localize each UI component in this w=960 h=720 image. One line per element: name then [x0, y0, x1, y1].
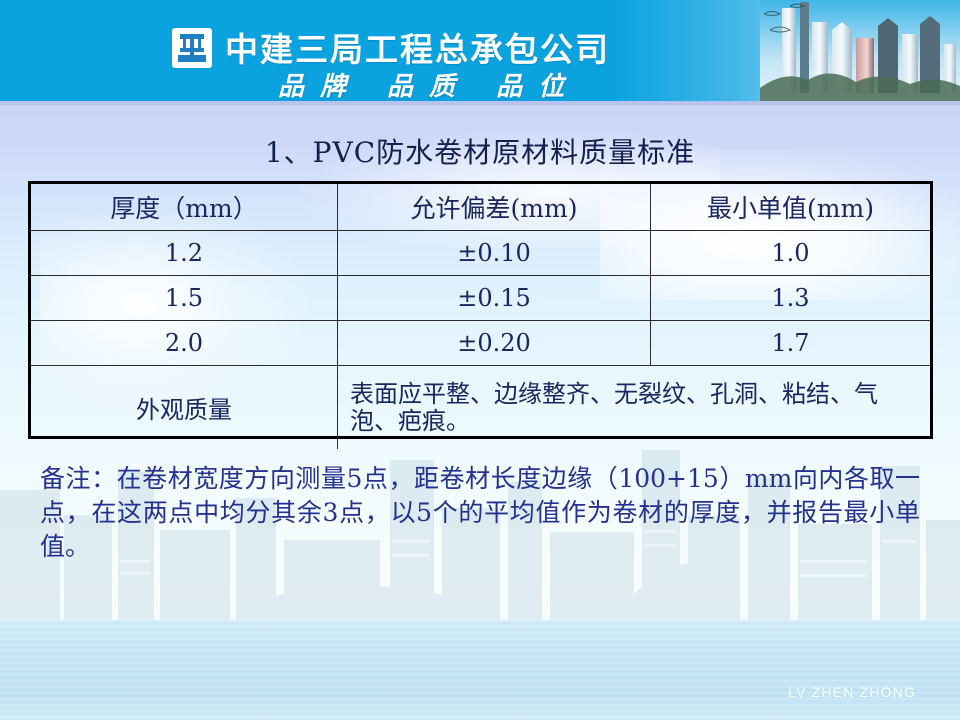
note-text: 备注：在卷材宽度方向测量5点，距卷材长度边缘（100+15）mm向内各取一点，在… — [40, 462, 920, 563]
quality-standard-table: 厚度（mm） 允许偏差(mm) 最小单值(mm) 1.2 ±0.10 1.0 1… — [28, 181, 933, 439]
table-row-appearance: 外观质量 表面应平整、边缘整齐、无裂纹、孔洞、粘结、气泡、疤痕。 — [31, 366, 930, 450]
table-row: 2.0 ±0.20 1.7 — [31, 321, 930, 366]
column-header-tolerance: 允许偏差(mm) — [338, 184, 651, 231]
cell-tolerance: ±0.10 — [338, 231, 651, 276]
table-row: 1.2 ±0.10 1.0 — [31, 231, 930, 276]
cell-appearance-value: 表面应平整、边缘整齐、无裂纹、孔洞、粘结、气泡、疤痕。 — [338, 366, 931, 450]
cell-thickness: 1.2 — [31, 231, 338, 276]
company-slogan: 品牌 品质 品位 — [278, 66, 580, 103]
column-header-thickness: 厚度（mm） — [31, 184, 338, 231]
page-title: 1、PVC防水卷材原材料质量标准 — [0, 131, 960, 171]
company-name: 中建三局工程总承包公司 — [225, 23, 610, 71]
header-banner: 中建三局工程总承包公司 品牌 品质 品位 — [0, 0, 960, 105]
table-row: 1.5 ±0.15 1.3 — [31, 276, 930, 321]
table-header-row: 厚度（mm） 允许偏差(mm) 最小单值(mm) — [31, 184, 930, 231]
watermark: LV ZHEN ZHONG — [788, 684, 916, 700]
cell-tolerance: ±0.15 — [338, 276, 651, 321]
cell-min-value: 1.7 — [651, 321, 931, 366]
company-logo-icon — [172, 28, 212, 68]
cell-tolerance: ±0.20 — [338, 321, 651, 366]
cell-min-value: 1.0 — [651, 231, 931, 276]
banner-bottom-strip — [0, 101, 960, 105]
cell-thickness: 1.5 — [31, 276, 338, 321]
column-header-min-value: 最小单值(mm) — [651, 184, 931, 231]
cell-appearance-label: 外观质量 — [31, 366, 338, 450]
slide-canvas: 中建三局工程总承包公司 品牌 品质 品位 1、PVC防水卷材原材料质量标准 厚度… — [0, 0, 960, 720]
skyline-photo — [760, 0, 960, 105]
cell-min-value: 1.3 — [651, 276, 931, 321]
cell-thickness: 2.0 — [31, 321, 338, 366]
